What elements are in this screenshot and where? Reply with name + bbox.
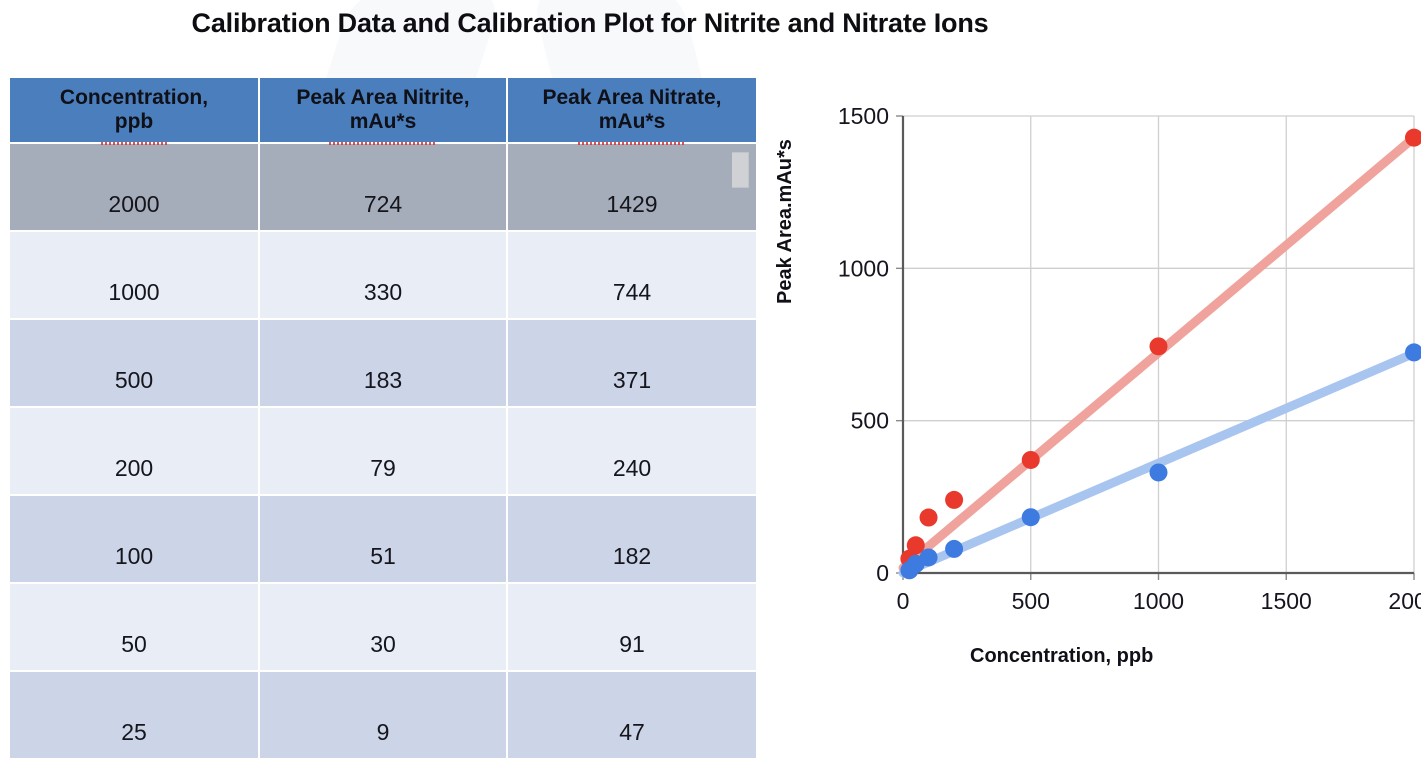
- calibration-table: Concentration, ppb Peak Area Nitrite, mA…: [8, 76, 758, 760]
- cell-concentration[interactable]: 50: [10, 584, 258, 670]
- cell-nitrite[interactable]: 79: [260, 408, 506, 494]
- cell-nitrite[interactable]: 183: [260, 320, 506, 406]
- data-point[interactable]: [920, 509, 938, 527]
- data-point[interactable]: [1150, 463, 1168, 481]
- column-header-nitrite-line1: Peak Area Nitrite,: [296, 86, 469, 109]
- data-point[interactable]: [920, 548, 938, 566]
- y-tick-label: 1500: [838, 103, 889, 129]
- cell-concentration[interactable]: 100: [10, 496, 258, 582]
- x-tick-label: 0: [897, 588, 910, 614]
- x-tick-label: 500: [1012, 588, 1050, 614]
- x-tick-label: 2000: [1388, 588, 1421, 614]
- table-row[interactable]: 50 30 91: [10, 584, 756, 670]
- cell-nitrate[interactable]: 91: [508, 584, 756, 670]
- table-row[interactable]: 200 79 240: [10, 408, 756, 494]
- y-tick-label: 0: [876, 560, 889, 586]
- cell-nitrate[interactable]: 47: [508, 672, 756, 758]
- calibration-table-container: Concentration, ppb Peak Area Nitrite, mA…: [8, 76, 732, 760]
- data-point[interactable]: [1150, 337, 1168, 355]
- cell-nitrate[interactable]: 371: [508, 320, 756, 406]
- page-title: Calibration Data and Calibration Plot fo…: [0, 8, 1180, 39]
- column-header-peak-area-nitrate[interactable]: Peak Area Nitrate, mAu*s: [508, 78, 756, 142]
- chart-x-ticks: 0500100015002000: [897, 573, 1421, 614]
- cell-nitrate[interactable]: 182: [508, 496, 756, 582]
- chart-y-axis-label: Peak Area.mAu*s: [774, 139, 797, 304]
- spellcheck-underline: [578, 142, 686, 145]
- table-row[interactable]: 100 51 182: [10, 496, 756, 582]
- cell-concentration[interactable]: 25: [10, 672, 258, 758]
- column-header-concentration[interactable]: Concentration, ppb: [10, 78, 258, 142]
- cell-nitrite[interactable]: 330: [260, 232, 506, 318]
- chart-svg: 050010001500 0500100015002000: [780, 82, 1421, 642]
- chart-x-axis-label: Concentration, ppb: [970, 645, 1153, 668]
- cell-nitrite[interactable]: 30: [260, 584, 506, 670]
- cell-concentration[interactable]: 1000: [10, 232, 258, 318]
- table-row[interactable]: 1000 330 744: [10, 232, 756, 318]
- column-header-concentration-line2: ppb: [14, 110, 254, 134]
- cell-nitrate[interactable]: 1429: [508, 144, 756, 230]
- column-header-concentration-line1: Concentration,: [60, 86, 208, 109]
- calibration-chart: Peak Area.mAu*s Concentration, ppb 05001…: [780, 82, 1421, 682]
- data-point[interactable]: [945, 540, 963, 558]
- row-selection-handle[interactable]: [732, 152, 749, 188]
- cell-concentration[interactable]: 500: [10, 320, 258, 406]
- table-body: 2000 724 1429 1000 330 744 500 183 371 2…: [10, 144, 756, 758]
- y-tick-label: 1000: [838, 255, 889, 281]
- data-point[interactable]: [1022, 508, 1040, 526]
- cell-nitrite[interactable]: 9: [260, 672, 506, 758]
- cell-concentration[interactable]: 200: [10, 408, 258, 494]
- chart-y-ticks: 050010001500: [838, 103, 903, 586]
- data-point[interactable]: [945, 491, 963, 509]
- cell-nitrite[interactable]: 724: [260, 144, 506, 230]
- cell-nitrate[interactable]: 744: [508, 232, 756, 318]
- column-header-peak-area-nitrite[interactable]: Peak Area Nitrite, mAu*s: [260, 78, 506, 142]
- cell-concentration[interactable]: 2000: [10, 144, 258, 230]
- x-tick-label: 1500: [1261, 588, 1312, 614]
- spellcheck-underline: [101, 142, 167, 145]
- column-header-nitrite-line2: mAu*s: [264, 110, 502, 134]
- table-row[interactable]: 500 183 371: [10, 320, 756, 406]
- table-row[interactable]: 25 9 47: [10, 672, 756, 758]
- cell-nitrate[interactable]: 240: [508, 408, 756, 494]
- data-point[interactable]: [1022, 451, 1040, 469]
- cell-nitrite[interactable]: 51: [260, 496, 506, 582]
- table-header-row: Concentration, ppb Peak Area Nitrite, mA…: [10, 78, 756, 142]
- column-header-nitrate-line2: mAu*s: [512, 110, 752, 134]
- table-row[interactable]: 2000 724 1429: [10, 144, 756, 230]
- y-tick-label: 500: [851, 408, 889, 434]
- column-header-nitrate-line1: Peak Area Nitrate,: [543, 86, 722, 109]
- spellcheck-underline: [329, 142, 437, 145]
- x-tick-label: 1000: [1133, 588, 1184, 614]
